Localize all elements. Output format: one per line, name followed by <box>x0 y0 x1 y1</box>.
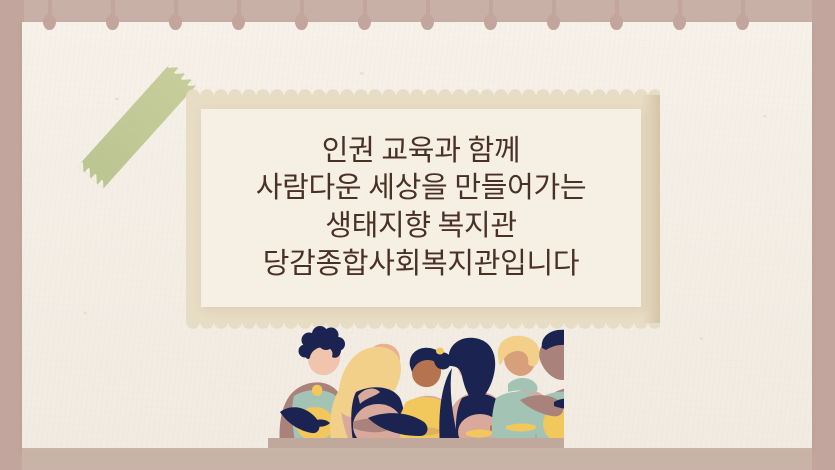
binding-hole-disc <box>421 14 434 30</box>
binding-hole-disc <box>358 14 371 30</box>
headline-line-2: 사람다운 세상을 만들어가는 <box>256 170 586 208</box>
headline-line-1: 인권 교육과 함께 <box>256 133 586 171</box>
headline-line-3: 생태지향 복지관 <box>256 208 586 246</box>
scallop-edge-top <box>186 87 660 96</box>
bottom-frame-band <box>22 450 812 470</box>
group-of-people-illustration <box>268 326 564 450</box>
binding-hole-disc <box>610 14 623 30</box>
binding-hole-disc <box>232 14 245 30</box>
binding-hole-disc <box>295 14 308 30</box>
headline-line-4: 당감종합사회복지관입니다 <box>256 246 586 284</box>
banner-canvas: 인권 교육과 함께 사람다운 세상을 만들어가는 생태지향 복지관 당감종합사회… <box>0 0 835 470</box>
binding-hole-disc <box>736 14 749 30</box>
headline-text: 인권 교육과 함께 사람다운 세상을 만들어가는 생태지향 복지관 당감종합사회… <box>256 133 586 284</box>
binding-hole-disc <box>106 14 119 30</box>
binding-hole-disc <box>673 14 686 30</box>
binding-hole-disc <box>43 14 56 30</box>
binding-hole-disc <box>547 14 560 30</box>
binding-hole-row <box>22 0 812 48</box>
card-edge-shadow <box>642 95 660 323</box>
binding-hole-disc <box>484 14 497 30</box>
binding-hole-disc <box>169 14 182 30</box>
message-card: 인권 교육과 함께 사람다운 세상을 만들어가는 생태지향 복지관 당감종합사회… <box>201 109 641 307</box>
